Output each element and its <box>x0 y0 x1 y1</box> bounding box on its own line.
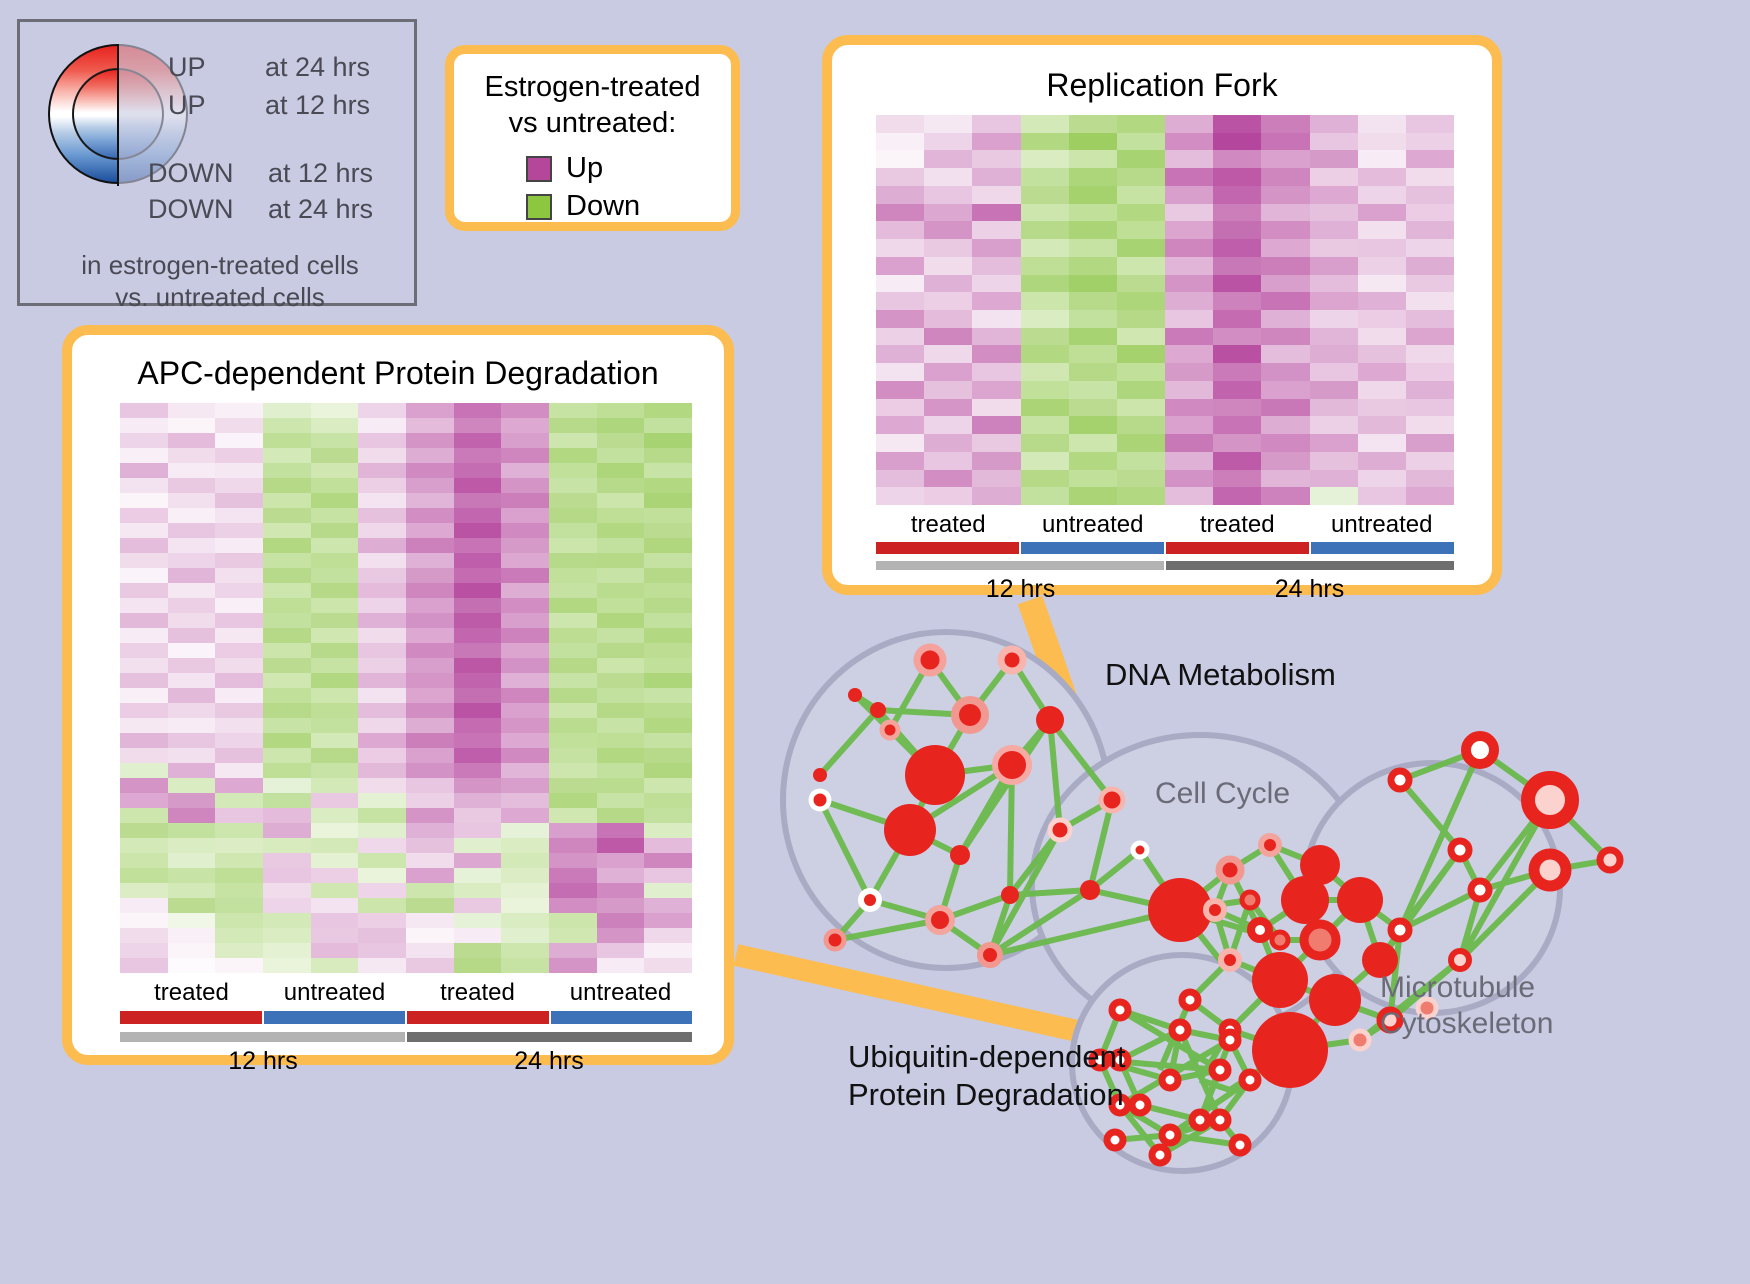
heatmap-cell <box>1117 292 1165 310</box>
heatmap-cell <box>924 345 972 363</box>
heatmap-cell <box>215 898 263 913</box>
heatmap-cell <box>644 883 692 898</box>
heatmap-cell <box>215 868 263 883</box>
heatmap-cell <box>501 478 549 493</box>
network-node[interactable] <box>884 804 936 856</box>
heatmap-cell <box>168 688 216 703</box>
heatmap-cell <box>358 598 406 613</box>
apc-protein-degradation-panel: APC-dependent Protein Degradation treate… <box>62 325 734 1065</box>
heatmap-cell <box>501 448 549 463</box>
network-node[interactable] <box>917 647 943 673</box>
heatmap-cell <box>876 381 924 399</box>
network-node[interactable] <box>1471 881 1489 899</box>
heatmap-cell <box>876 328 924 346</box>
replication-fork-panel: Replication Fork treated untreated treat… <box>822 35 1502 595</box>
network-node[interactable] <box>1192 1112 1208 1128</box>
heatmap-cell <box>501 898 549 913</box>
network-node[interactable] <box>1212 1062 1228 1078</box>
heatmap-cell <box>168 928 216 943</box>
heatmap-cell <box>1165 363 1213 381</box>
replication-fork-title: Replication Fork <box>832 67 1492 104</box>
heatmap-cell <box>597 643 645 658</box>
treatment-bar <box>1021 542 1164 554</box>
heatmap-cell <box>597 523 645 538</box>
heatmap-cell <box>263 508 311 523</box>
heatmap-cell <box>549 493 597 508</box>
heatmap-cell <box>549 553 597 568</box>
heatmap-cell <box>263 928 311 943</box>
network-node[interactable] <box>1036 706 1064 734</box>
network-node[interactable] <box>1252 1012 1328 1088</box>
heatmap-cell <box>1310 257 1358 275</box>
network-node[interactable] <box>1107 1132 1123 1148</box>
heatmap-cell <box>1213 363 1261 381</box>
network-node[interactable] <box>1219 859 1241 881</box>
heatmap-cell <box>263 718 311 733</box>
network-node[interactable] <box>1182 992 1198 1008</box>
heatmap-cell <box>549 838 597 853</box>
heatmap-cell <box>215 448 263 463</box>
heatmap-cell <box>1406 452 1454 470</box>
heatmap-cell <box>1213 434 1261 452</box>
network-node[interactable] <box>1148 878 1212 942</box>
heatmap-cell <box>501 628 549 643</box>
network-node[interactable] <box>1162 1072 1178 1088</box>
heatmap-cell <box>406 703 454 718</box>
heatmap-cell <box>358 793 406 808</box>
heatmap-cell <box>972 204 1020 222</box>
heatmap-cell <box>1261 310 1309 328</box>
network-node[interactable] <box>1304 924 1336 956</box>
network-node[interactable] <box>1132 1097 1148 1113</box>
heatmap-cell <box>168 913 216 928</box>
network-node[interactable] <box>1391 921 1409 939</box>
heatmap-cell <box>1213 168 1261 186</box>
network-node[interactable] <box>1152 1147 1168 1163</box>
network-node[interactable] <box>1300 845 1340 885</box>
heatmap-cell <box>358 838 406 853</box>
heatmap-cell <box>644 613 692 628</box>
network-node[interactable] <box>1206 901 1224 919</box>
heatmap-cell <box>1213 221 1261 239</box>
heatmap-cell <box>644 508 692 523</box>
heatmap-cell <box>644 643 692 658</box>
heatmap-cell <box>215 628 263 643</box>
heatmap-cell <box>1117 115 1165 133</box>
heatmap-cell <box>168 538 216 553</box>
heatmap-cell <box>406 508 454 523</box>
heatmap-cell <box>1165 399 1213 417</box>
heatmap-cell <box>1358 363 1406 381</box>
heatmap-cell <box>168 853 216 868</box>
group-label: treated <box>1165 511 1310 539</box>
heatmap-cell <box>549 658 597 673</box>
network-node[interactable] <box>1337 877 1383 923</box>
heatmap-cell <box>1406 275 1454 293</box>
heatmap-cell <box>644 913 692 928</box>
network-node[interactable] <box>1351 1031 1369 1049</box>
heatmap-cell <box>1069 381 1117 399</box>
heatmap-cell <box>501 958 549 973</box>
heatmap-cell <box>644 403 692 418</box>
network-node[interactable] <box>1309 974 1361 1026</box>
network-node[interactable] <box>1451 841 1469 859</box>
heatmap-cell <box>1069 310 1117 328</box>
heatmap-cell <box>406 568 454 583</box>
heatmap-cell <box>1021 115 1069 133</box>
heatmap-cell <box>406 643 454 658</box>
heatmap-cell <box>168 898 216 913</box>
heatmap-cell <box>501 778 549 793</box>
heatmap-cell <box>215 658 263 673</box>
heatmap-cell <box>597 748 645 763</box>
heatmap-cell <box>454 763 502 778</box>
heatmap-cell <box>454 613 502 628</box>
heatmap-cell <box>120 958 168 973</box>
network-node[interactable] <box>1391 771 1409 789</box>
network-node[interactable] <box>848 688 862 702</box>
heatmap-cell <box>549 583 597 598</box>
heatmap-cell <box>358 553 406 568</box>
network-svg[interactable] <box>760 600 1750 1279</box>
heatmap-cell <box>168 568 216 583</box>
heatmap-cell <box>1261 275 1309 293</box>
time-label: 24 hrs <box>406 1047 692 1076</box>
heatmap-cell <box>168 943 216 958</box>
heatmap-cell <box>924 186 972 204</box>
heatmap-cell <box>924 416 972 434</box>
heatmap-cell <box>168 418 216 433</box>
heatmap-cell <box>876 487 924 505</box>
network-node[interactable] <box>1221 951 1239 969</box>
heatmap-cell <box>215 943 263 958</box>
heatmap-cell <box>597 823 645 838</box>
heatmap-cell <box>1310 470 1358 488</box>
heatmap-cell <box>549 793 597 808</box>
heatmap-cell <box>120 613 168 628</box>
network-node[interactable] <box>995 748 1029 782</box>
heatmap-cell <box>120 433 168 448</box>
heatmap-cell <box>1406 150 1454 168</box>
network-node[interactable] <box>905 745 965 805</box>
heatmap-cell <box>501 883 549 898</box>
heatmap-cell <box>120 478 168 493</box>
heatmap-cell <box>1406 345 1454 363</box>
heatmap-cell <box>597 898 645 913</box>
network-node[interactable] <box>1534 854 1566 886</box>
heatmap-cell <box>358 418 406 433</box>
heatmap-cell <box>263 568 311 583</box>
network-node[interactable] <box>955 700 985 730</box>
heatmap-cell <box>454 538 502 553</box>
heatmap-cell <box>120 928 168 943</box>
heatmap-cell <box>1069 399 1117 417</box>
heatmap-cell <box>1358 221 1406 239</box>
heatmap-cell <box>501 733 549 748</box>
heatmap-cell <box>549 538 597 553</box>
heatmap-cell <box>168 628 216 643</box>
heatmap-cell <box>215 433 263 448</box>
network-node[interactable] <box>1112 1002 1128 1018</box>
heatmap-cell <box>597 793 645 808</box>
heatmap-cell <box>1310 275 1358 293</box>
network-node[interactable] <box>1050 820 1070 840</box>
heatmap-cell <box>1117 416 1165 434</box>
heatmap-cell <box>972 168 1020 186</box>
heatmap-cell <box>924 470 972 488</box>
heatmap-cell <box>1406 487 1454 505</box>
network-node[interactable] <box>882 722 898 738</box>
heatmap-cell <box>358 478 406 493</box>
heatmap-cell <box>358 463 406 478</box>
heatmap-cell <box>311 703 359 718</box>
heatmap-cell <box>1069 416 1117 434</box>
apc-heatmap[interactable] <box>120 403 692 973</box>
heatmap-cell <box>644 763 692 778</box>
heatmap-cell <box>1021 150 1069 168</box>
heatmap-cell <box>215 418 263 433</box>
group-label: treated <box>406 979 549 1007</box>
heatmap-cell <box>597 448 645 463</box>
heatmap-cell <box>876 292 924 310</box>
network-node[interactable] <box>1133 843 1147 857</box>
heatmap-cell <box>597 928 645 943</box>
heatmap-cell <box>263 943 311 958</box>
heatmap-cell <box>358 448 406 463</box>
heatmap-cell <box>311 883 359 898</box>
heatmap-cell <box>358 538 406 553</box>
heatmap-cell <box>358 778 406 793</box>
heatmap-cell <box>1358 115 1406 133</box>
time-label: 24 hrs <box>1165 575 1454 604</box>
heatmap-cell <box>311 508 359 523</box>
heatmap-cell <box>972 257 1020 275</box>
heatmap-cell <box>1310 487 1358 505</box>
heatmap-cell <box>549 523 597 538</box>
heatmap-cell <box>549 823 597 838</box>
heatmap-cell <box>263 733 311 748</box>
network-node[interactable] <box>1172 1022 1188 1038</box>
heatmap-cell <box>644 688 692 703</box>
heatmap-cell <box>1213 310 1261 328</box>
heatmap-cell <box>597 778 645 793</box>
network-node[interactable] <box>870 702 886 718</box>
heatmap-cell <box>406 583 454 598</box>
heatmap-cell <box>406 868 454 883</box>
heatmap-cell <box>406 493 454 508</box>
heatmap-cell <box>972 275 1020 293</box>
heatmap-cell <box>1117 239 1165 257</box>
network-node[interactable] <box>1528 778 1572 822</box>
network-node[interactable] <box>1162 1127 1178 1143</box>
heatmap-cell <box>597 853 645 868</box>
heatmap-cell <box>501 538 549 553</box>
network-node[interactable] <box>811 791 829 809</box>
network-node[interactable] <box>1080 880 1100 900</box>
heatmap-cell <box>972 452 1020 470</box>
heatmap-cell <box>1406 168 1454 186</box>
heatmap-cell <box>215 808 263 823</box>
heatmap-cell <box>1165 186 1213 204</box>
heatmap-cell <box>215 553 263 568</box>
heatmap-cell <box>1358 257 1406 275</box>
heatmap-cell <box>597 838 645 853</box>
heatmap-cell <box>454 448 502 463</box>
heatmap-cell <box>1165 115 1213 133</box>
heatmap-cell <box>1406 470 1454 488</box>
heatmap-cell <box>1261 470 1309 488</box>
treatment-bar <box>1166 542 1309 554</box>
heatmap-cell <box>215 673 263 688</box>
heatmap-cell <box>406 853 454 868</box>
heatmap-cell <box>311 643 359 658</box>
heatmap-cell <box>215 583 263 598</box>
heatmap-cell <box>311 658 359 673</box>
heatmap-cell <box>644 958 692 973</box>
heatmap-cell <box>1213 133 1261 151</box>
heatmap-cell <box>644 928 692 943</box>
network-node[interactable] <box>980 945 1000 965</box>
network-node[interactable] <box>1466 736 1494 764</box>
heatmap-cell <box>924 452 972 470</box>
network-node[interactable] <box>1251 921 1269 939</box>
heatmap-cell <box>263 853 311 868</box>
replication-fork-heatmap[interactable] <box>876 115 1454 505</box>
network-node[interactable] <box>1272 932 1288 948</box>
heatmap-cell <box>1117 452 1165 470</box>
heatmap-cell <box>263 958 311 973</box>
heatmap-cell <box>454 913 502 928</box>
heatmap-cell <box>358 613 406 628</box>
heatmap-cell <box>1406 381 1454 399</box>
heatmap-cell <box>120 523 168 538</box>
heatmap-cell <box>168 718 216 733</box>
heatmap-cell <box>406 613 454 628</box>
heatmap-cell <box>972 221 1020 239</box>
network-node[interactable] <box>1242 1072 1258 1088</box>
network-node[interactable] <box>1232 1137 1248 1153</box>
heatmap-cell <box>1358 399 1406 417</box>
time-bar <box>120 1032 405 1042</box>
network-node[interactable] <box>1101 789 1123 811</box>
heatmap-cell <box>1069 452 1117 470</box>
heatmap-cell <box>644 523 692 538</box>
network-node[interactable] <box>861 891 879 909</box>
heatmap-cell <box>406 553 454 568</box>
heatmap-cell <box>549 568 597 583</box>
heatmap-cell <box>454 523 502 538</box>
treatment-bar <box>264 1011 406 1024</box>
heatmap-cell <box>644 778 692 793</box>
heatmap-cell <box>597 478 645 493</box>
heatmap-cell <box>168 763 216 778</box>
heatmap-cell <box>406 673 454 688</box>
heatmap-cell <box>1021 310 1069 328</box>
heatmap-cell <box>1117 399 1165 417</box>
heatmap-cell <box>168 478 216 493</box>
heatmap-cell <box>1165 239 1213 257</box>
heatmap-cell <box>311 418 359 433</box>
heatmap-cell <box>549 703 597 718</box>
heatmap-cell <box>358 688 406 703</box>
heatmap-cell <box>263 478 311 493</box>
heatmap-cell <box>406 943 454 958</box>
heatmap-cell <box>1021 470 1069 488</box>
network-node[interactable] <box>1600 850 1620 870</box>
network-node[interactable] <box>1451 951 1469 969</box>
heatmap-cell <box>972 310 1020 328</box>
heatmap-cell <box>644 733 692 748</box>
network-node[interactable] <box>813 768 827 782</box>
heatmap-cell <box>1213 186 1261 204</box>
heatmap-cell <box>168 613 216 628</box>
heatmap-cell <box>501 523 549 538</box>
heatmap-cell <box>597 718 645 733</box>
network-node[interactable] <box>950 845 970 865</box>
network-node[interactable] <box>928 908 952 932</box>
heatmap-cell <box>120 598 168 613</box>
treatment-bar <box>551 1011 693 1024</box>
replication-fork-time-labels: 12 hrs 24 hrs <box>876 575 1454 604</box>
pathway-network-diagram[interactable]: DNA Metabolism Cell Cycle Microtubule Cy… <box>760 600 1750 1279</box>
network-node[interactable] <box>1242 892 1258 908</box>
heatmap-cell <box>263 688 311 703</box>
heatmap-cell <box>454 958 502 973</box>
heatmap-cell <box>263 613 311 628</box>
heatmap-cell <box>924 239 972 257</box>
heatmap-cell <box>924 204 972 222</box>
heatmap-cell <box>358 928 406 943</box>
network-node[interactable] <box>1001 649 1023 671</box>
network-node[interactable] <box>1212 1112 1228 1128</box>
heatmap-cell <box>1406 434 1454 452</box>
heatmap-cell <box>549 643 597 658</box>
heatmap-cell <box>1165 133 1213 151</box>
heatmap-cell <box>1117 204 1165 222</box>
network-node[interactable] <box>1001 886 1019 904</box>
heatmap-cell <box>120 673 168 688</box>
network-node[interactable] <box>1222 1032 1238 1048</box>
heatmap-cell <box>311 538 359 553</box>
heatmap-cell <box>876 115 924 133</box>
heatmap-cell <box>406 463 454 478</box>
heatmap-cell <box>263 658 311 673</box>
heatmap-cell <box>358 733 406 748</box>
heatmap-cell <box>1165 434 1213 452</box>
heatmap-cell <box>406 748 454 763</box>
heatmap-cell <box>924 363 972 381</box>
heatmap-cell <box>454 568 502 583</box>
heatmap-cell <box>120 403 168 418</box>
heatmap-cell <box>549 913 597 928</box>
heatmap-cell <box>924 150 972 168</box>
heatmap-cell <box>454 898 502 913</box>
heatmap-cell <box>168 808 216 823</box>
heatmap-cell <box>644 448 692 463</box>
heatmap-cell <box>644 493 692 508</box>
heatmap-cell <box>1358 487 1406 505</box>
heatmap-cell <box>597 493 645 508</box>
network-node[interactable] <box>826 931 844 949</box>
heatmap-cell <box>120 898 168 913</box>
network-node[interactable] <box>1261 836 1279 854</box>
heatmap-cell <box>597 598 645 613</box>
cluster-label-dna-metabolism: DNA Metabolism <box>1105 657 1336 693</box>
heatmap-cell <box>311 778 359 793</box>
network-node[interactable] <box>1252 952 1308 1008</box>
heatmap-cell <box>1310 416 1358 434</box>
heatmap-cell <box>1358 452 1406 470</box>
